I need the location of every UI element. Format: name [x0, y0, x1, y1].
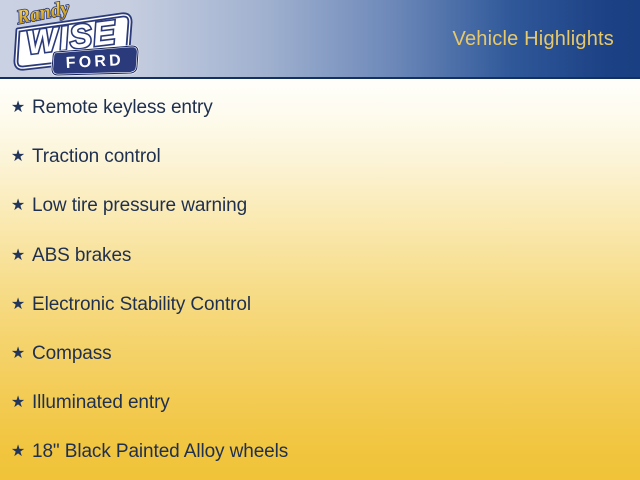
highlight-item: ★Traction control [8, 144, 161, 170]
highlight-item: ★18" Black Painted Alloy wheels [8, 439, 288, 465]
star-bullet-icon: ★ [8, 248, 28, 264]
randy-wise-ford-logo[interactable]: WISE FORD Randy [4, 0, 144, 78]
highlight-item: ★Compass [8, 341, 112, 367]
star-bullet-icon: ★ [8, 444, 28, 460]
highlight-label: Illuminated entry [32, 390, 170, 416]
highlight-item: ★ABS brakes [8, 243, 131, 269]
highlight-label: ABS brakes [32, 243, 131, 269]
highlight-item: ★Electronic Stability Control [8, 292, 251, 318]
highlight-item: ★Low tire pressure warning [8, 193, 247, 219]
svg-text:FORD: FORD [65, 52, 124, 72]
logo-ford-banner: FORD [52, 46, 138, 75]
highlight-label: Remote keyless entry [32, 95, 213, 121]
highlight-item: ★Remote keyless entry [8, 95, 213, 121]
highlight-label: Compass [32, 341, 112, 367]
highlights-panel: ★Remote keyless entry★Traction control★L… [0, 79, 640, 480]
star-bullet-icon: ★ [8, 100, 28, 116]
header-bar: WISE FORD Randy Vehicle Highlights [0, 0, 640, 79]
highlight-item: ★Illuminated entry [8, 390, 170, 416]
page-title: Vehicle Highlights [453, 28, 614, 51]
star-bullet-icon: ★ [8, 346, 28, 362]
star-bullet-icon: ★ [8, 198, 28, 214]
highlight-label: Electronic Stability Control [32, 292, 251, 318]
highlight-label: Traction control [32, 144, 161, 170]
highlight-label: Low tire pressure warning [32, 193, 247, 219]
star-bullet-icon: ★ [8, 149, 28, 165]
highlight-label: 18" Black Painted Alloy wheels [32, 439, 288, 465]
star-bullet-icon: ★ [8, 297, 28, 313]
star-bullet-icon: ★ [8, 395, 28, 411]
vehicle-highlights-slide: WISE FORD Randy Vehicle Highlights ★Remo… [0, 0, 640, 480]
